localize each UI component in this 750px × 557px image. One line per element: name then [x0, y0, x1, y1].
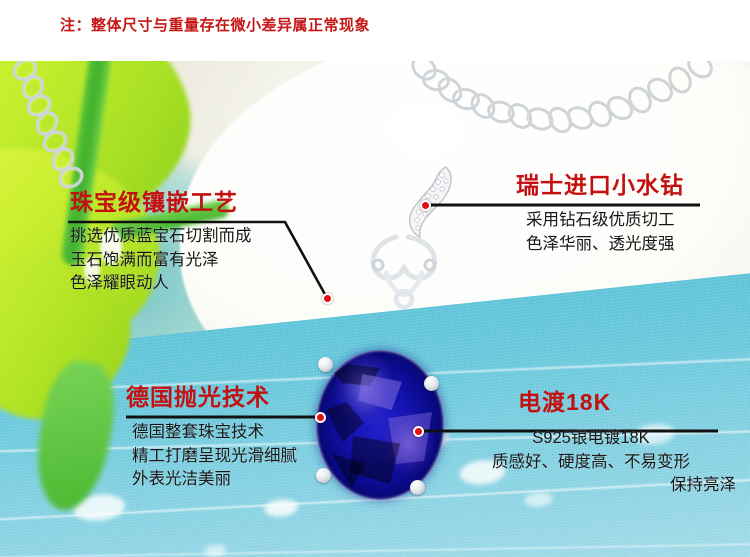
callout-title: 珠宝级镶嵌工艺	[66, 190, 252, 215]
callout-mounting-craft: 珠宝级镶嵌工艺 挑选优质蓝宝石切割而成 玉石饱满而富有光泽 色泽耀眼动人	[66, 190, 252, 296]
callout-line: 色泽耀眼动人	[70, 272, 252, 295]
callout-body: 采用钻石级优质切工 色泽华丽、透光度强	[510, 209, 684, 256]
callout-body: 挑选优质蓝宝石切割而成 玉石饱满而富有光泽 色泽耀眼动人	[66, 225, 252, 295]
callout-body: S925银电镀18K 质感好、硬度高、不易变形 保持亮泽	[446, 427, 736, 497]
callout-title: 德国抛光技术	[122, 385, 297, 410]
product-detail-image: 注：整体尺寸与重量存在微小差异属正常现象	[0, 0, 750, 557]
marker-dot-mounting	[322, 293, 333, 304]
callout-line: 挑选优质蓝宝石切割而成	[70, 225, 252, 248]
callout-swiss-crystal: 瑞士进口小水钻 采用钻石级优质切工 色泽华丽、透光度强	[510, 173, 684, 256]
callout-german-polish: 德国抛光技术 德国整套珠宝技术 精工打磨呈现光滑细腻 外表光洁美丽	[122, 385, 297, 492]
callout-line: 外表光洁美丽	[132, 468, 297, 491]
callout-18k-plating: 电渡18K S925银电镀18K 质感好、硬度高、不易变形 保持亮泽	[446, 390, 736, 498]
callout-line: S925银电镀18K	[446, 427, 736, 450]
callout-line: 精工打磨呈现光滑细腻	[132, 445, 297, 468]
callout-line: 德国整套珠宝技术	[132, 421, 297, 444]
callout-title: 瑞士进口小水钻	[510, 173, 684, 198]
marker-dot-polish	[315, 412, 326, 423]
callout-title: 电渡18K	[446, 390, 736, 415]
marker-dot-plating	[413, 426, 424, 437]
callout-line: 质感好、硬度高、不易变形	[446, 451, 736, 474]
callout-line: 采用钻石级优质切工	[526, 209, 684, 232]
callout-body: 德国整套珠宝技术 精工打磨呈现光滑细腻 外表光洁美丽	[122, 421, 297, 491]
marker-dot-crystal	[420, 200, 431, 211]
callout-line: 保持亮泽	[446, 474, 736, 497]
callout-line: 玉石饱满而富有光泽	[70, 249, 252, 272]
callout-line: 色泽华丽、透光度强	[526, 233, 684, 256]
